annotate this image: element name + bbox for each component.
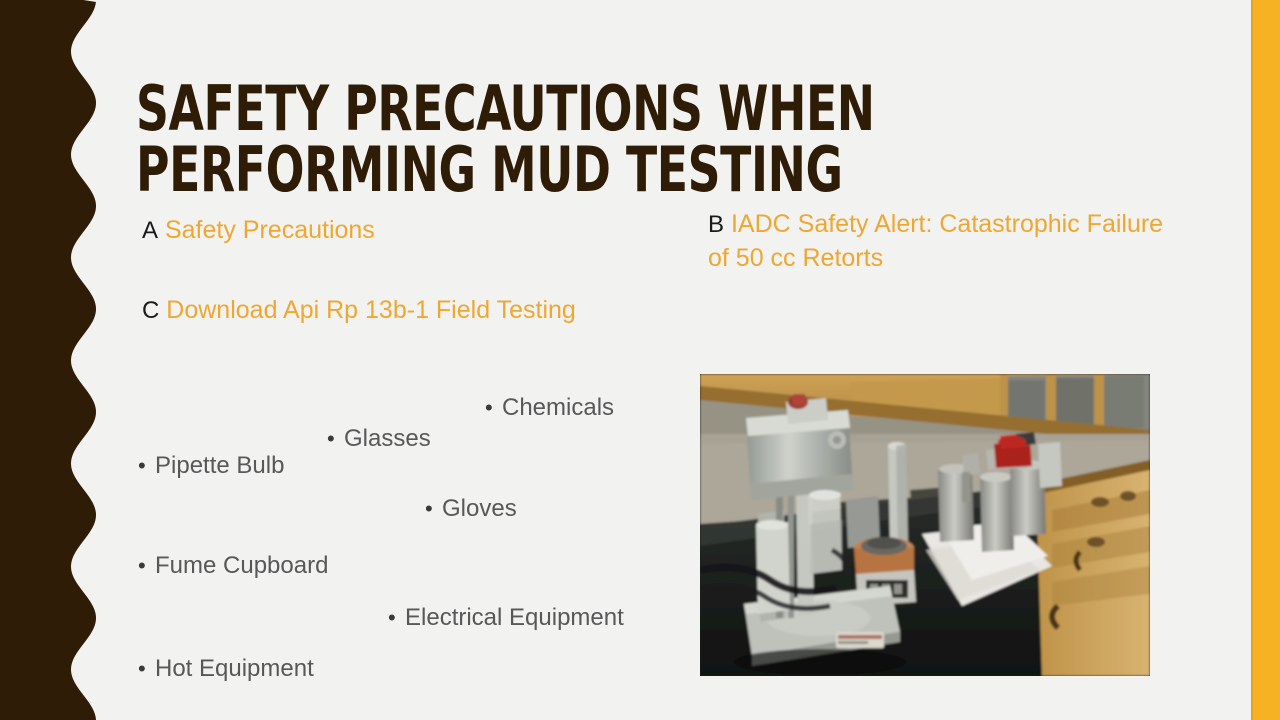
bullet-dot-icon: • [327,428,344,450]
link-label-a[interactable]: Safety Precautions [165,216,375,244]
link-letter-c: C [142,297,159,324]
bullet-dot-icon: • [425,498,442,520]
right-accent-bar [1251,0,1280,720]
bullet-dot-icon: • [388,607,405,629]
slide: Safety Precautions When Performing Mud T… [0,0,1280,720]
link-item-a[interactable]: A Safety Precautions [142,214,662,248]
link-letter-b: B [708,211,724,238]
list-item: •Electrical Equipment [388,606,624,630]
list-item-label: Chemicals [502,394,614,421]
list-item-label: Hot Equipment [155,655,314,682]
link-label-b[interactable]: IADC Safety Alert: Catastrophic Failure … [708,210,1163,272]
bullet-dot-icon: • [485,397,502,419]
page-title: Safety Precautions When Performing Mud T… [136,78,923,201]
list-item-label: Gloves [442,495,517,522]
link-item-b[interactable]: B IADC Safety Alert: Catastrophic Failur… [708,208,1168,275]
list-item: •Pipette Bulb [138,454,284,478]
link-label-c[interactable]: Download Api Rp 13b-1 Field Testing [166,296,576,324]
list-item-label: Fume Cupboard [155,552,328,579]
list-item: •Glasses [327,427,431,451]
list-item: •Chemicals [485,396,614,420]
list-item: •Hot Equipment [138,657,314,681]
list-item: •Gloves [425,497,517,521]
lab-bench-photo [700,374,1150,676]
link-letter-a: A [142,217,158,244]
list-item-label: Glasses [344,425,431,452]
list-item-label: Electrical Equipment [405,604,624,631]
list-item: •Fume Cupboard [138,554,328,578]
list-item-label: Pipette Bulb [155,452,284,479]
bullet-dot-icon: • [138,555,155,577]
bullet-dot-icon: • [138,658,155,680]
scalloped-wave-decoration [0,0,100,720]
bullet-dot-icon: • [138,455,155,477]
accent-bar-inner-line [1251,0,1253,720]
link-item-c[interactable]: C Download Api Rp 13b-1 Field Testing [142,294,672,328]
